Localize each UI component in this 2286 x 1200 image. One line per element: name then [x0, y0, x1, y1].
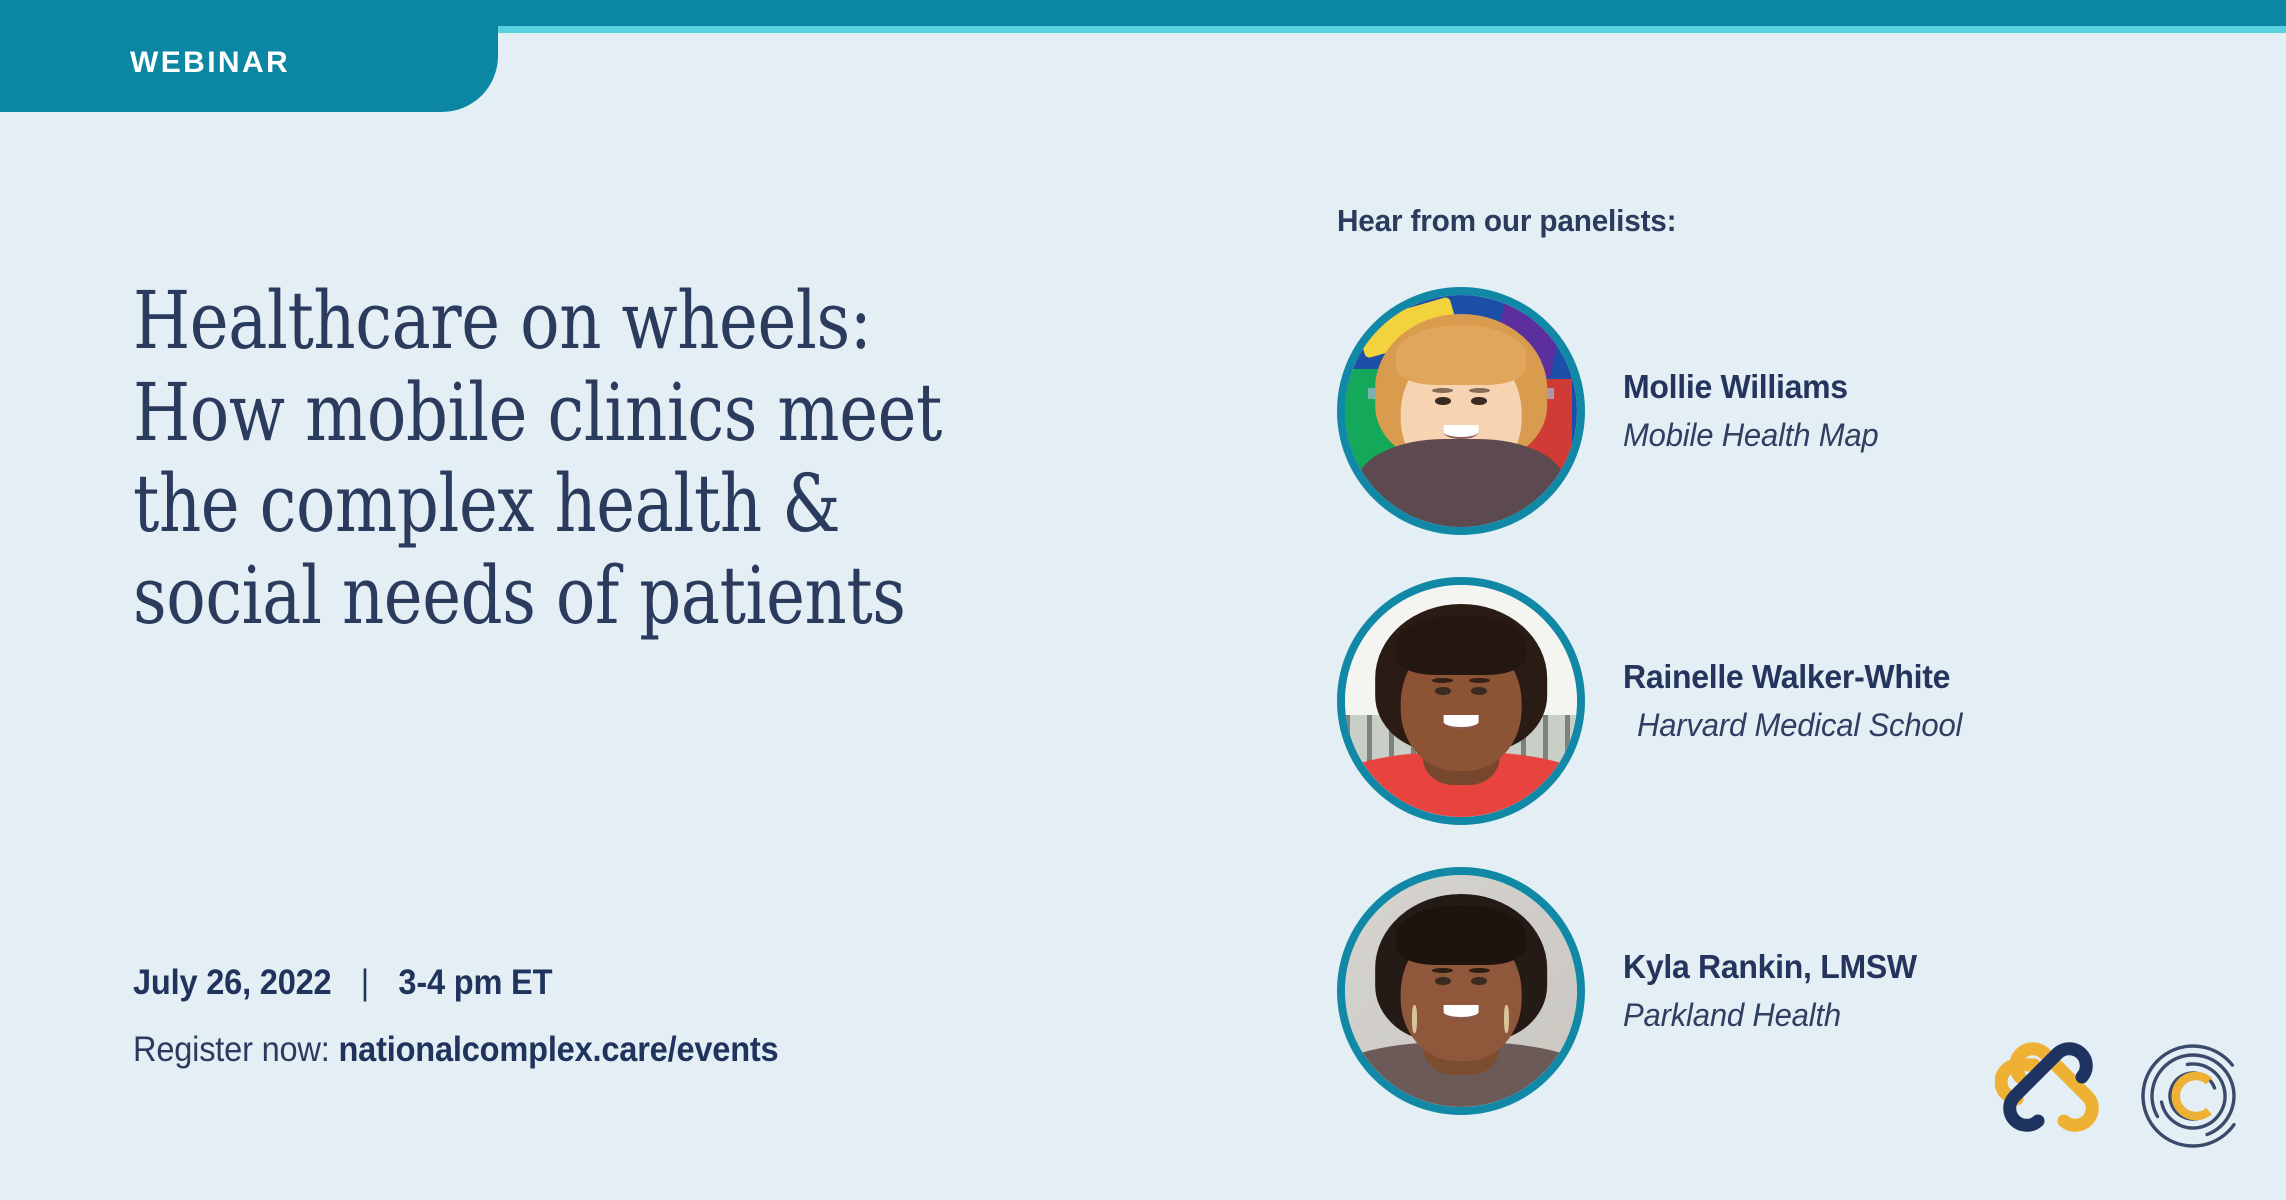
event-meta-block: July 26, 2022 | 3-4 pm ET Register now: … [133, 963, 1233, 1070]
panelist-org: Mobile Health Map [1623, 417, 1879, 454]
panelist-name: Rainelle Walker-White [1623, 658, 1962, 696]
panelist-avatar [1337, 867, 1585, 1115]
event-date: July 26, 2022 [133, 963, 331, 1002]
panelist-row: Kyla Rankin, LMSW Parkland Health [1337, 867, 1926, 1115]
headline: Healthcare on wheels: How mobile clinics… [133, 275, 1027, 641]
webinar-badge-label: WEBINAR [0, 32, 290, 80]
portrait-kyla-rankin [1345, 875, 1577, 1107]
headline-line-1: Healthcare on wheels: [133, 275, 1027, 367]
panelists-heading: Hear from our panelists: [1337, 203, 2105, 239]
panelist-org: Parkland Health [1623, 997, 1917, 1034]
portrait-mollie-williams [1345, 295, 1577, 527]
panelists-section: Hear from our panelists: [1337, 203, 2137, 239]
panelist-row: Rainelle Walker-White Harvard Medical Sc… [1337, 577, 1972, 825]
panelist-text: Mollie Williams Mobile Health Map [1623, 368, 1886, 454]
panelist-text: Kyla Rankin, LMSW Parkland Health [1623, 948, 1926, 1034]
register-prefix: Register now: [133, 1030, 330, 1069]
register-line: Register now: nationalcomplex.care/event… [133, 1030, 1156, 1070]
concentric-circles-c-logo [2137, 1040, 2249, 1152]
headline-line-3: the complex health & [133, 458, 1027, 550]
webinar-promo-poster: WEBINAR Healthcare on wheels: How mobile… [0, 0, 2286, 1200]
headline-line-2: How mobile clinics meet [133, 367, 1027, 459]
headline-line-4: social needs of patients [133, 550, 1027, 642]
panelist-avatar [1337, 287, 1585, 535]
panelist-avatar [1337, 577, 1585, 825]
webinar-badge: WEBINAR [0, 0, 498, 112]
panelist-row: Mollie Williams Mobile Health Map [1337, 287, 1886, 535]
event-datetime: July 26, 2022 | 3-4 pm ET [133, 963, 1156, 1003]
event-divider: | [340, 963, 389, 1003]
panelist-text: Rainelle Walker-White Harvard Medical Sc… [1623, 658, 1972, 744]
event-time: 3-4 pm ET [398, 963, 552, 1002]
interlocking-loops-logo [1995, 1040, 2107, 1152]
logo-group [1995, 1040, 2249, 1152]
portrait-rainelle-walker-white [1345, 585, 1577, 817]
headline-block: Healthcare on wheels: How mobile clinics… [133, 275, 1223, 641]
panelist-name: Kyla Rankin, LMSW [1623, 948, 1917, 986]
panelist-org: Harvard Medical School [1637, 707, 1962, 744]
register-url[interactable]: nationalcomplex.care/events [338, 1030, 778, 1069]
panelist-name: Mollie Williams [1623, 368, 1879, 406]
